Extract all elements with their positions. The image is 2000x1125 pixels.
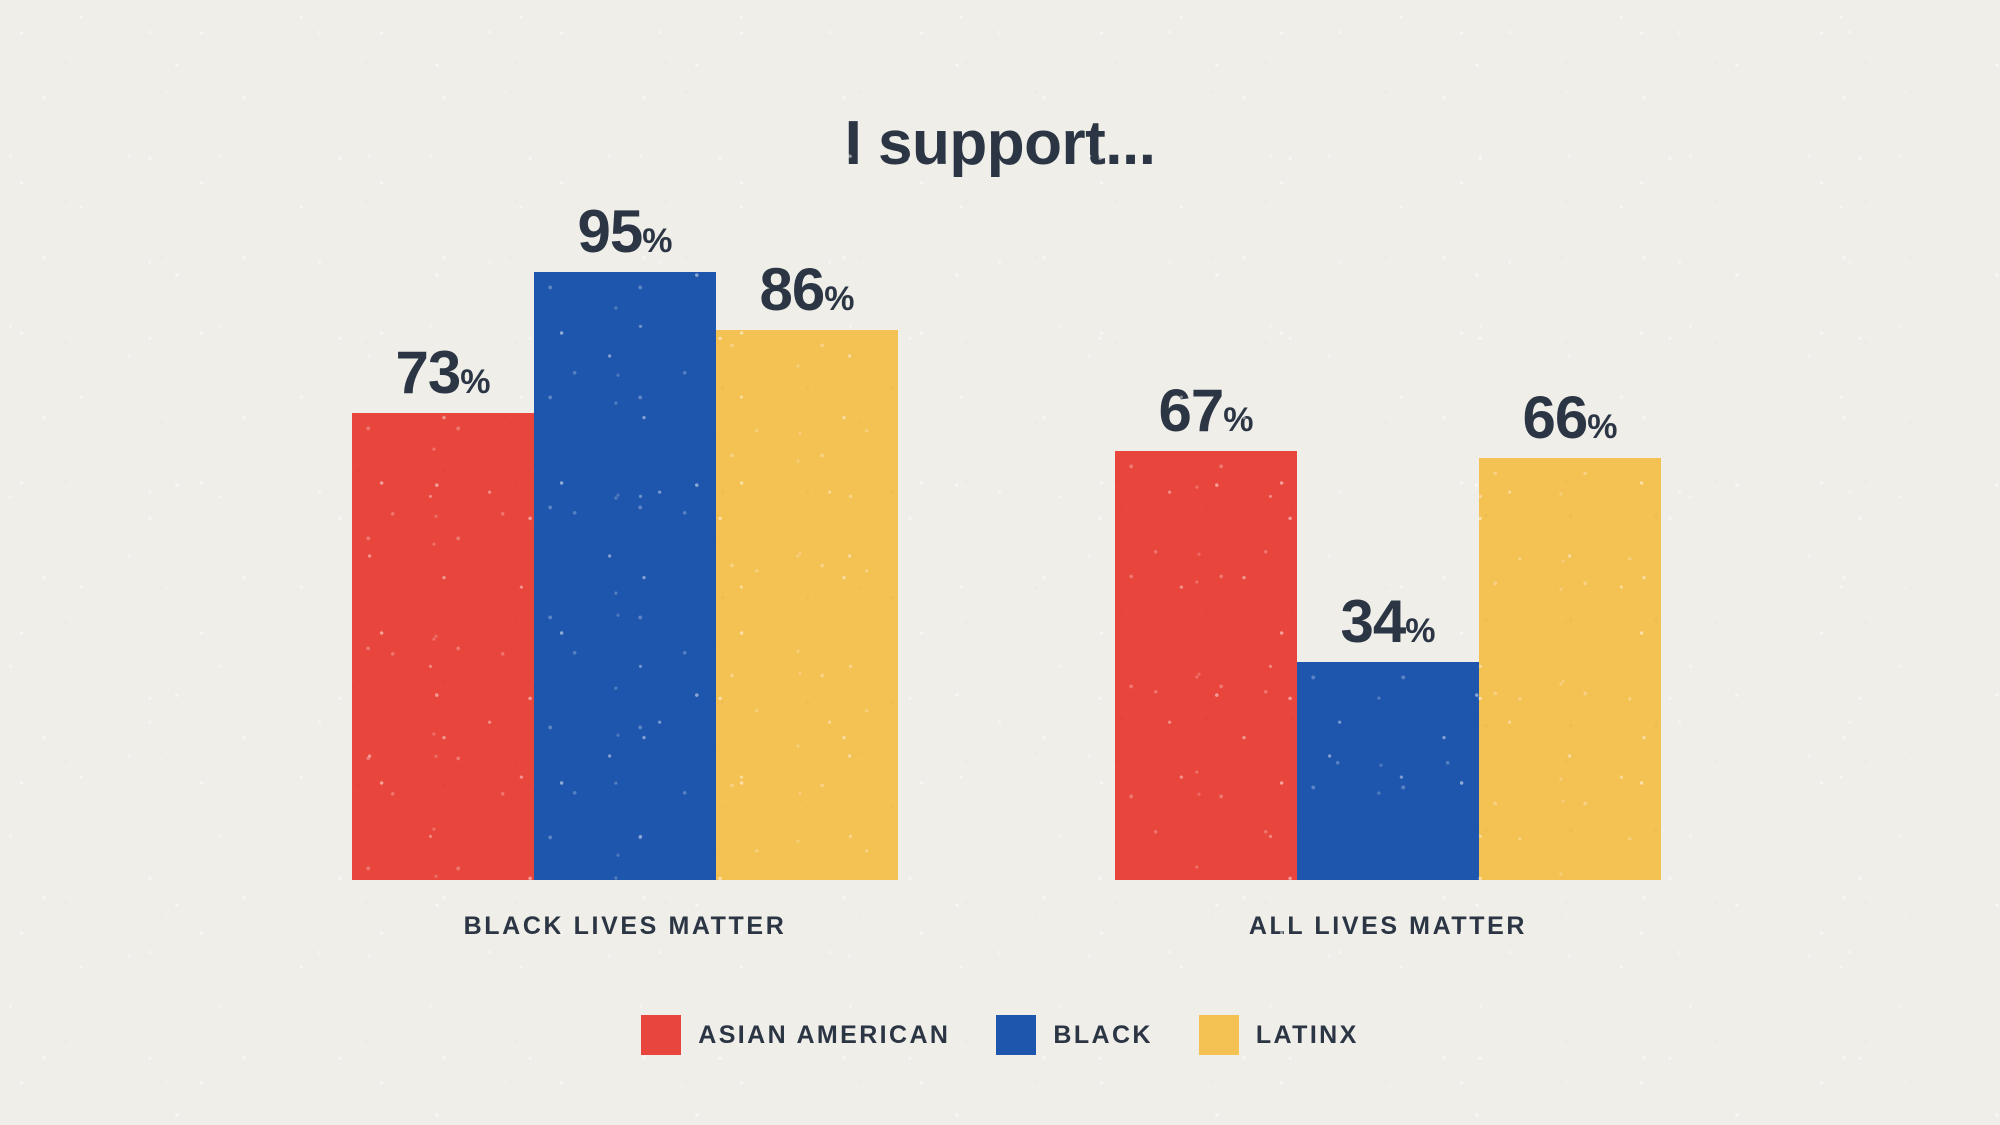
page-title: I support... (0, 108, 2000, 179)
bar-group-black-lives-matter: 73% 95% 86% (352, 240, 898, 880)
bar-alm-latinx[interactable]: 66% (1479, 458, 1661, 880)
bar-blm-latinx[interactable]: 86% (716, 330, 898, 880)
bar-value-number: 73 (396, 339, 461, 406)
bar-label-blm-latinx: 86% (760, 260, 855, 320)
bar-slot-blm-asian-american: 73% (352, 240, 534, 880)
bar-slot-blm-black: 95% (534, 240, 716, 880)
bar-label-blm-black: 95% (578, 202, 673, 262)
bar-value-number: 86 (760, 256, 825, 323)
bar-alm-black[interactable]: 34% (1297, 662, 1479, 880)
bar-label-alm-asian-american: 67% (1159, 381, 1254, 441)
legend-item-black[interactable]: BLACK (996, 1015, 1153, 1055)
legend-item-asian-american[interactable]: ASIAN AMERICAN (641, 1015, 950, 1055)
bar-label-alm-black: 34% (1341, 592, 1436, 652)
legend-swatch-latinx-icon (1199, 1015, 1239, 1055)
bar-slot-alm-black: 34% (1297, 240, 1479, 880)
percent-sign: % (1587, 408, 1617, 446)
bar-alm-asian-american[interactable]: 67% (1115, 451, 1297, 880)
bar-label-alm-latinx: 66% (1523, 388, 1618, 448)
bar-blm-black[interactable]: 95% (534, 272, 716, 880)
category-label-all-lives-matter: ALL LIVES MATTER (1115, 912, 1661, 941)
bar-slot-alm-asian-american: 67% (1115, 240, 1297, 880)
category-label-black-lives-matter: BLACK LIVES MATTER (352, 912, 898, 941)
chart-canvas: I support... 73% 95% (0, 0, 2000, 1125)
legend-label-black: BLACK (1053, 1021, 1153, 1050)
bar-value-number: 66 (1523, 384, 1588, 451)
bar-slot-blm-latinx: 86% (716, 240, 898, 880)
bar-value-number: 67 (1159, 377, 1224, 444)
bar-label-blm-asian-american: 73% (396, 343, 491, 403)
bar-slot-alm-latinx: 66% (1479, 240, 1661, 880)
bar-group-all-lives-matter: 67% 34% 66% (1115, 240, 1661, 880)
percent-sign: % (642, 222, 672, 260)
bar-value-number: 95 (578, 198, 643, 265)
legend-swatch-asian-american-icon (641, 1015, 681, 1055)
percent-sign: % (1223, 401, 1253, 439)
legend-swatch-black-icon (996, 1015, 1036, 1055)
bar-blm-asian-american[interactable]: 73% (352, 413, 534, 880)
legend-item-latinx[interactable]: LATINX (1199, 1015, 1359, 1055)
legend-label-asian-american: ASIAN AMERICAN (698, 1021, 950, 1050)
legend: ASIAN AMERICAN BLACK LATINX (0, 1015, 2000, 1055)
percent-sign: % (824, 280, 854, 318)
legend-label-latinx: LATINX (1256, 1021, 1359, 1050)
bar-value-number: 34 (1341, 588, 1406, 655)
percent-sign: % (1405, 612, 1435, 650)
percent-sign: % (460, 363, 490, 401)
